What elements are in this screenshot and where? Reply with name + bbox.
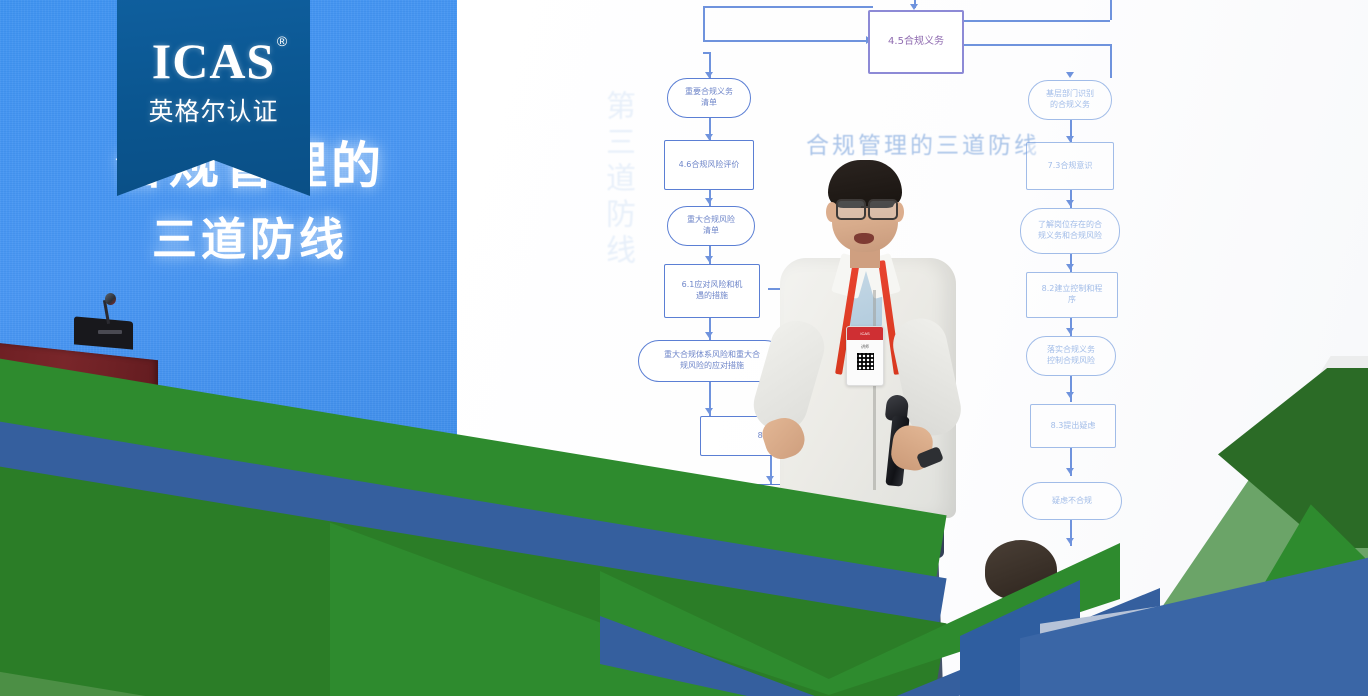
flow-arrow bbox=[705, 256, 713, 262]
podium-microphone-icon bbox=[105, 293, 116, 305]
slide-watermark-text: 第三道防线 bbox=[595, 90, 639, 270]
flow-arrow bbox=[1066, 538, 1074, 544]
flow-connector bbox=[960, 44, 1110, 46]
glasses-lens-right-icon bbox=[868, 199, 898, 220]
flow-node-4-5[interactable]: 4.5合规义务 bbox=[868, 10, 964, 74]
flow-arrow bbox=[705, 408, 713, 414]
icas-wordmark: ICAS ® bbox=[152, 36, 275, 86]
flow-connector bbox=[703, 6, 873, 8]
flow-node-8-3[interactable]: 8.3提出疑虑 bbox=[1030, 404, 1116, 448]
flow-arrow bbox=[1066, 200, 1074, 206]
flow-node-dept-identified-obligations[interactable]: 基层部门识别 的合规义务 bbox=[1028, 80, 1112, 120]
flow-arrow bbox=[1066, 328, 1074, 334]
icas-chinese-subtitle: 英格尔认证 bbox=[148, 92, 278, 128]
led-wall-title-line-2: 三道防线 bbox=[60, 203, 440, 268]
flow-arrow bbox=[1066, 468, 1074, 474]
flow-arrow bbox=[1066, 392, 1074, 398]
flow-connector bbox=[703, 40, 871, 42]
presenter-badge: ICAS 讲师 bbox=[846, 326, 884, 386]
glasses-bridge-icon bbox=[861, 206, 869, 208]
flow-arrow bbox=[705, 198, 713, 204]
presenter-shirt-placket bbox=[873, 290, 876, 490]
flow-connector bbox=[960, 20, 1110, 22]
flow-connector bbox=[1110, 44, 1112, 78]
screenshot-stage: 合规管理的 三道防线 ICAS ® 英格尔认证 第三道防线 合规管理的三道防线 bbox=[0, 0, 1368, 696]
presenter-mouth bbox=[854, 233, 874, 244]
badge-name: 讲师 bbox=[847, 344, 883, 350]
flow-arrow bbox=[1066, 264, 1074, 270]
flow-arrow bbox=[705, 332, 713, 338]
podium-panel-strip bbox=[98, 330, 122, 334]
flow-connector bbox=[1070, 376, 1072, 402]
registered-trademark-icon: ® bbox=[277, 34, 288, 48]
flow-connector bbox=[1110, 0, 1112, 20]
qr-code-icon bbox=[857, 353, 874, 370]
flow-arrow bbox=[1066, 72, 1074, 78]
glasses-lens-left-icon bbox=[836, 199, 866, 220]
flow-connector bbox=[703, 6, 705, 40]
badge-header: ICAS bbox=[847, 327, 883, 340]
icas-wordmark-text: ICAS bbox=[152, 33, 275, 89]
flow-node-important-obligations-list[interactable]: 重要合规义务 清单 bbox=[667, 78, 751, 118]
